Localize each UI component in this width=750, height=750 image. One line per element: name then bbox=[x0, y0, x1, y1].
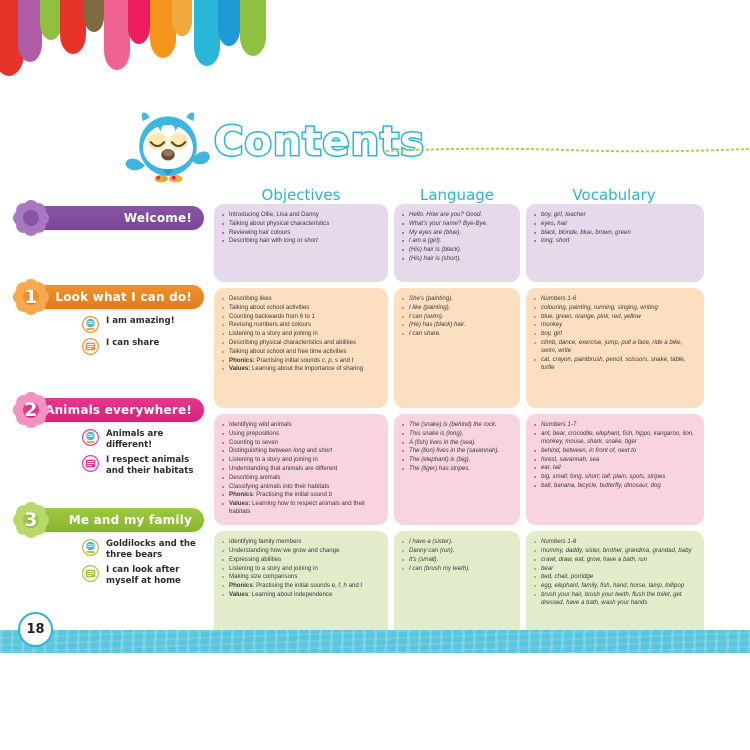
bullet-list-language: I have a (sister).Danny can (run).It's (… bbox=[402, 538, 512, 573]
unit-sub-item[interactable]: I can look after myself at home bbox=[82, 565, 204, 586]
values-book-icon bbox=[82, 565, 99, 582]
list-item: Danny can (run). bbox=[402, 547, 512, 555]
list-item: ant, bear, crocodile, elephant, fish, hi… bbox=[534, 430, 696, 447]
list-item: ear, tail bbox=[534, 464, 696, 472]
page-number-badge: 18 bbox=[18, 612, 53, 647]
table-row: Describing likesTalking about school act… bbox=[214, 288, 704, 408]
cell-language: Hello. How are you? Good.What's your nam… bbox=[394, 204, 520, 282]
bullet-list-objectives: Identifying wild animalsUsing prepositio… bbox=[222, 421, 380, 517]
title-squiggle-line bbox=[386, 144, 750, 156]
cell-language: She's (painting).I like (painting).I can… bbox=[394, 288, 520, 408]
list-item: Identifying family members bbox=[222, 538, 380, 546]
bottom-color-band bbox=[0, 630, 750, 653]
bullet-list-objectives: Describing likesTalking about school act… bbox=[222, 295, 380, 374]
unit-title: Animals everywhere! bbox=[45, 403, 192, 417]
unit-banner[interactable]: 3Me and my family bbox=[26, 508, 204, 532]
unit-number: 3 bbox=[12, 501, 50, 539]
list-item: This snake is (long). bbox=[402, 430, 512, 438]
list-item: Using prepositions bbox=[222, 430, 380, 438]
list-item: crawl, draw, eat, grow, have a bath, run bbox=[534, 556, 696, 564]
list-item: monkey bbox=[534, 321, 696, 329]
list-item: blue, green, orange, pink, red, yellow bbox=[534, 313, 696, 321]
list-item: Values: Learning about independence bbox=[222, 591, 380, 599]
story-owl-icon bbox=[82, 316, 99, 333]
list-item: Phonics: Practising the initial sound b bbox=[222, 491, 380, 499]
bullet-list-objectives: Identifying family membersUnderstanding … bbox=[222, 538, 380, 599]
list-item: Counting backwards from 6 to 1 bbox=[222, 313, 380, 321]
unit-sub-item-label: I can share bbox=[106, 338, 159, 349]
unit-sub-item-label: I respect animals and their habitats bbox=[106, 455, 204, 476]
bullet-list-vocabulary: Numbers 1-8mummy, daddy, sister, brother… bbox=[534, 538, 696, 607]
list-item: Numbers 1-6 bbox=[534, 295, 696, 303]
list-item: It's (small). bbox=[402, 556, 512, 564]
list-item: ball, banana, bicycle, butterfly, dinosa… bbox=[534, 482, 696, 490]
cell-objectives: Describing likesTalking about school act… bbox=[214, 288, 388, 408]
list-item: Talking about physical characteristics bbox=[222, 220, 380, 228]
story-owl-icon bbox=[82, 429, 99, 446]
list-item: I can (swim). bbox=[402, 313, 512, 321]
unit-sub-item-label: Animals are different! bbox=[106, 429, 204, 450]
list-item: (He) has (black) hair. bbox=[402, 321, 512, 329]
unit-title: Welcome! bbox=[124, 211, 192, 225]
unit-block-2: 2Animals everywhere! Animals are differe… bbox=[26, 398, 204, 481]
bullet-list-language: She's (painting).I like (painting).I can… bbox=[402, 295, 512, 338]
list-item: boy, girl bbox=[534, 330, 696, 338]
unit-number: 1 bbox=[12, 278, 50, 316]
list-item: Describing hair with long or short bbox=[222, 237, 380, 245]
cell-language: The (snake) is (behind) the rock.This sn… bbox=[394, 414, 520, 525]
list-item: I like (painting). bbox=[402, 304, 512, 312]
unit-block-0: Welcome! bbox=[26, 206, 204, 230]
unit-banner[interactable]: 1Look what I can do! bbox=[26, 285, 204, 309]
decor-petal bbox=[240, 0, 266, 56]
list-item: Numbers 1-7 bbox=[534, 421, 696, 429]
unit-banner[interactable]: 2Animals everywhere! bbox=[26, 398, 204, 422]
cell-objectives: Identifying family membersUnderstanding … bbox=[214, 531, 388, 639]
unit-sub-item-label: I can look after myself at home bbox=[106, 565, 204, 586]
bullet-list-vocabulary: Numbers 1-6colouring, painting, running,… bbox=[534, 295, 696, 373]
list-item: Identifying wild animals bbox=[222, 421, 380, 429]
decor-petal bbox=[128, 0, 150, 44]
cell-vocabulary: boy, girl, teachereyes, hairblack, blond… bbox=[526, 204, 704, 282]
list-item: big, small; long, short; tall; plain, sp… bbox=[534, 473, 696, 481]
list-item: Numbers 1-8 bbox=[534, 538, 696, 546]
values-book-icon bbox=[82, 455, 99, 472]
column-header-vocabulary: Vocabulary bbox=[526, 186, 702, 204]
owl-mascot bbox=[120, 100, 216, 196]
list-item: climb, dance, exercise, jump, pull a fac… bbox=[534, 339, 696, 356]
list-item: Phonics: Practising initial sounds c, p,… bbox=[222, 357, 380, 365]
list-item: She's (painting). bbox=[402, 295, 512, 303]
list-item: black, blonde, blue, brown, green bbox=[534, 229, 696, 237]
unit-sub-items: Animals are different! I respect animals… bbox=[26, 429, 204, 476]
unit-number: 2 bbox=[12, 391, 50, 429]
decor-petal bbox=[18, 0, 42, 62]
cell-objectives: Identifying wild animalsUsing prepositio… bbox=[214, 414, 388, 525]
page-title: Contents bbox=[214, 118, 425, 166]
list-item: Reviewing hair colours bbox=[222, 229, 380, 237]
decor-petal bbox=[84, 0, 104, 32]
decor-petal bbox=[150, 0, 176, 58]
bullet-list-vocabulary: boy, girl, teachereyes, hairblack, blond… bbox=[534, 211, 696, 246]
decor-petal bbox=[0, 0, 24, 76]
list-item: behind, between, in front of, next to bbox=[534, 447, 696, 455]
unit-sub-item[interactable]: I respect animals and their habitats bbox=[82, 455, 204, 476]
list-item: Listening to a story and joining in bbox=[222, 330, 380, 338]
unit-sub-item[interactable]: Goldilocks and the three bears bbox=[82, 539, 204, 560]
list-item: cat, crayon, paintbrush, pencil, scissor… bbox=[534, 356, 696, 373]
decor-petal bbox=[40, 0, 62, 40]
cell-objectives: Introducing Ollie, Lisa and DannyTalking… bbox=[214, 204, 388, 282]
cell-vocabulary: Numbers 1-6colouring, painting, running,… bbox=[526, 288, 704, 408]
list-item: bed, chair, porridge bbox=[534, 573, 696, 581]
cell-vocabulary: Numbers 1-7ant, bear, crocodile, elephan… bbox=[526, 414, 704, 525]
list-item: Listening to a story and joining in bbox=[222, 456, 380, 464]
list-item: Describing animals bbox=[222, 474, 380, 482]
list-item: long, short bbox=[534, 237, 696, 245]
cell-language: I have a (sister).Danny can (run).It's (… bbox=[394, 531, 520, 639]
list-item: boy, girl, teacher bbox=[534, 211, 696, 219]
unit-sub-item[interactable]: Animals are different! bbox=[82, 429, 204, 450]
list-item: The (snake) is (behind) the rock. bbox=[402, 421, 512, 429]
list-item: Introducing Ollie, Lisa and Danny bbox=[222, 211, 380, 219]
unit-sub-items: I am amazing! I can share bbox=[26, 316, 204, 355]
contents-table: Introducing Ollie, Lisa and DannyTalking… bbox=[214, 204, 704, 645]
unit-sub-item-label: Goldilocks and the three bears bbox=[106, 539, 204, 560]
table-row: Identifying wild animalsUsing prepositio… bbox=[214, 414, 704, 525]
values-book-icon bbox=[82, 338, 99, 355]
list-item: I have a (sister). bbox=[402, 538, 512, 546]
unit-title: Look what I can do! bbox=[55, 290, 192, 304]
unit-sub-item[interactable]: I can share bbox=[82, 338, 204, 355]
decor-petal bbox=[172, 0, 192, 36]
unit-title: Me and my family bbox=[69, 513, 192, 527]
table-row: Identifying family membersUnderstanding … bbox=[214, 531, 704, 639]
unit-block-3: 3Me and my family Goldilocks and the thr… bbox=[26, 508, 204, 591]
list-item: Describing physical characteristics and … bbox=[222, 339, 380, 347]
unit-sub-items: Goldilocks and the three bears I can loo… bbox=[26, 539, 204, 586]
decor-petal bbox=[218, 0, 240, 46]
decor-petal bbox=[194, 0, 220, 66]
list-item: colouring, painting, running, singing, w… bbox=[534, 304, 696, 312]
list-item: forest, savannah, sea bbox=[534, 456, 696, 464]
list-item: The (elephant) is (big). bbox=[402, 456, 512, 464]
list-item: What's your name? Bye-Bye. bbox=[402, 220, 512, 228]
list-item: The (tiger) has stripes. bbox=[402, 465, 512, 473]
decor-petal bbox=[104, 0, 130, 70]
list-item: Phonics: Practising the initial sounds e… bbox=[222, 582, 380, 590]
cell-vocabulary: Numbers 1-8mummy, daddy, sister, brother… bbox=[526, 531, 704, 639]
list-item: Distinguishing between long and short bbox=[222, 447, 380, 455]
list-item: A (fish) lives in the (sea). bbox=[402, 439, 512, 447]
unit-sub-item-label: I am amazing! bbox=[106, 316, 175, 327]
list-item: Understanding how we grow and change bbox=[222, 547, 380, 555]
list-item: My eyes are (blue). bbox=[402, 229, 512, 237]
list-item: (His) hair is (short). bbox=[402, 255, 512, 263]
column-header-objectives: Objectives bbox=[214, 186, 388, 204]
bullet-list-objectives: Introducing Ollie, Lisa and DannyTalking… bbox=[222, 211, 380, 246]
list-item: Values: Learning how to respect animals … bbox=[222, 500, 380, 517]
list-item: Listening to a story and joining in bbox=[222, 565, 380, 573]
list-item: Describing likes bbox=[222, 295, 380, 303]
decor-petal bbox=[60, 0, 86, 54]
list-item: I can share. bbox=[402, 330, 512, 338]
unit-sub-item[interactable]: I am amazing! bbox=[82, 316, 204, 333]
bullet-list-language: The (snake) is (behind) the rock.This sn… bbox=[402, 421, 512, 473]
list-item: bear bbox=[534, 565, 696, 573]
list-item: Hello. How are you? Good. bbox=[402, 211, 512, 219]
list-item: I am a (girl). bbox=[402, 237, 512, 245]
bullet-list-language: Hello. How are you? Good.What's your nam… bbox=[402, 211, 512, 263]
unit-banner[interactable]: Welcome! bbox=[26, 206, 204, 230]
list-item: Understanding that animals are different bbox=[222, 465, 380, 473]
list-item: eyes, hair bbox=[534, 220, 696, 228]
list-item: I can (brush my teeth). bbox=[402, 565, 512, 573]
list-item: Classifying animals into their habitats bbox=[222, 483, 380, 491]
unit-block-1: 1Look what I can do! I am amazing! I can… bbox=[26, 285, 204, 360]
list-item: brush your hair, brush your teeth, flush… bbox=[534, 591, 696, 608]
list-item: mummy, daddy, sister, brother, grandma, … bbox=[534, 547, 696, 555]
list-item: Counting to seven bbox=[222, 439, 380, 447]
table-row: Introducing Ollie, Lisa and DannyTalking… bbox=[214, 204, 704, 282]
list-item: Making size comparisons bbox=[222, 573, 380, 581]
column-header-language: Language bbox=[394, 186, 520, 204]
list-item: egg, elephant, family, fish, hand, horse… bbox=[534, 582, 696, 590]
list-item: Talking about school activities bbox=[222, 304, 380, 312]
list-item: Revising numbers and colours bbox=[222, 321, 380, 329]
list-item: Expressing abilities bbox=[222, 556, 380, 564]
list-item: Talking about school and free time activ… bbox=[222, 348, 380, 356]
flower-icon bbox=[12, 199, 50, 237]
bullet-list-vocabulary: Numbers 1-7ant, bear, crocodile, elephan… bbox=[534, 421, 696, 490]
top-petal-decoration bbox=[0, 0, 330, 110]
story-owl-icon bbox=[82, 539, 99, 556]
list-item: Values: Learning about the importance of… bbox=[222, 365, 380, 373]
list-item: (His) hair is (black). bbox=[402, 246, 512, 254]
list-item: The (lion) lives in the (savannah). bbox=[402, 447, 512, 455]
